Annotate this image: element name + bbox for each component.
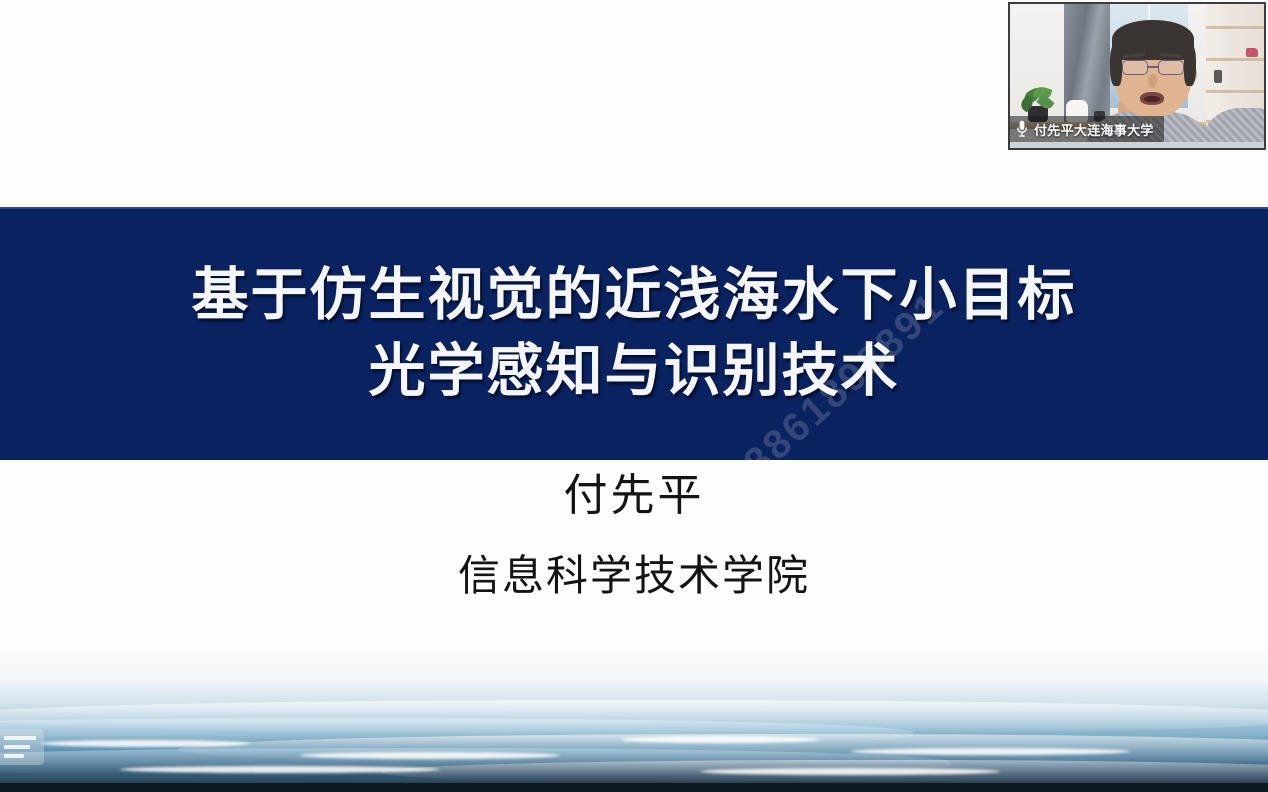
participant-video-thumbnail[interactable]: 付先平大连海事大学: [1008, 2, 1266, 150]
ocean-waves-image: [0, 648, 1268, 792]
toolbar-line: [4, 745, 30, 749]
foam-streak: [700, 768, 1000, 775]
hidden-overlay-toolbar[interactable]: [0, 729, 44, 765]
meeting-screen-share-view: 基于仿生视觉的近浅海水下小目标 光学感知与识别技术 18861898891 付先…: [0, 0, 1268, 792]
shelf-object: [1214, 70, 1222, 83]
eyeglasses-lens: [1122, 60, 1148, 75]
toolbar-line: [4, 754, 24, 758]
slide-title-line-1: 基于仿生视觉的近浅海水下小目标: [192, 258, 1077, 334]
eyeglasses-lens: [1158, 60, 1184, 75]
presenter-affiliation: 信息科学技术学院: [458, 551, 810, 601]
foam-streak: [40, 740, 250, 747]
ocean-bottom-edge: [0, 783, 1268, 792]
foam-streak: [620, 736, 820, 743]
foam-streak: [120, 766, 440, 773]
slide-title-banner: 基于仿生视觉的近浅海水下小目标 光学感知与识别技术: [0, 207, 1268, 460]
microphone-icon: [1016, 120, 1028, 138]
foam-streak: [300, 752, 560, 759]
presenter-name: 付先平: [564, 470, 705, 523]
shelf-board: [1206, 58, 1266, 61]
toolbar-line: [4, 736, 36, 740]
shelf-board: [1206, 90, 1266, 93]
video-bottom-strip: [1010, 142, 1264, 148]
person-nose: [1148, 74, 1157, 88]
participant-name-text: 付先平大连海事大学: [1034, 120, 1154, 139]
eyeglasses-bridge: [1148, 66, 1158, 68]
person-hair: [1110, 44, 1122, 86]
shelf-toy: [1246, 48, 1258, 57]
slide-title-line-2: 光学感知与识别技术: [369, 334, 900, 410]
person-mouth-inner: [1144, 96, 1160, 102]
participant-name-label: 付先平大连海事大学: [1010, 116, 1164, 142]
person-hair: [1184, 44, 1196, 86]
slide-presenter-block: 付先平 信息科学技术学院: [0, 470, 1268, 601]
foam-streak: [850, 748, 1130, 755]
shelf-board: [1206, 26, 1266, 29]
